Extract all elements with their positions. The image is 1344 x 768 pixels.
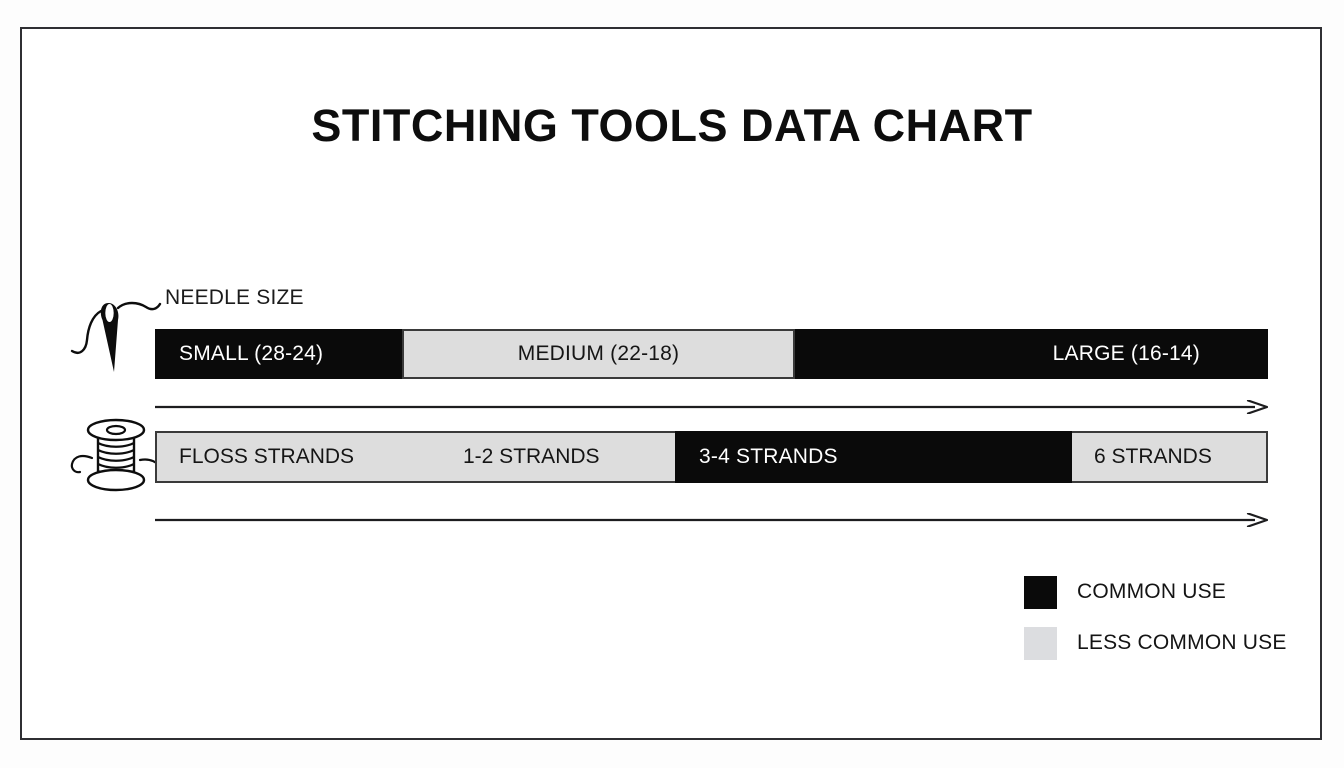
floss-strands-bar: FLOSS STRANDS 1-2 STRANDS 3-4 STRANDS 6 … — [155, 431, 1268, 483]
legend-swatch-common-use — [1024, 576, 1057, 609]
needle-segment-medium-label: MEDIUM (22-18) — [518, 342, 680, 366]
legend: COMMON USE LESS COMMON USE — [1024, 573, 1287, 662]
needle-segment-large[interactable]: LARGE (16-14) — [795, 329, 1268, 379]
needle-segment-small[interactable]: SMALL (28-24) — [155, 329, 402, 379]
infographic-canvas: STITCHING TOOLS DATA CHART NEEDLE SIZE S… — [0, 0, 1344, 768]
needle-segment-small-label: SMALL (28-24) — [179, 342, 323, 366]
page-title: STITCHING TOOLS DATA CHART — [0, 100, 1344, 152]
floss-segment-6-strands-label: 6 STRANDS — [1094, 445, 1212, 469]
legend-label-common-use: COMMON USE — [1077, 580, 1226, 604]
needle-segment-medium[interactable]: MEDIUM (22-18) — [402, 329, 795, 379]
floss-segment-3-4-strands[interactable]: 3-4 STRANDS — [675, 431, 1072, 483]
floss-segment-1-2-strands-label: 1-2 STRANDS — [463, 445, 600, 469]
sewing-needle-icon — [68, 276, 164, 381]
legend-item-common-use[interactable]: COMMON USE — [1024, 573, 1287, 611]
floss-segment-light-left[interactable]: FLOSS STRANDS 1-2 STRANDS — [155, 431, 675, 483]
floss-axis-arrow — [155, 513, 1268, 527]
legend-swatch-less-common-use — [1024, 627, 1057, 660]
floss-segment-6-strands[interactable]: 6 STRANDS — [1072, 431, 1268, 483]
needle-size-caption: NEEDLE SIZE — [165, 286, 304, 310]
needle-segment-large-label: LARGE (16-14) — [1053, 342, 1200, 366]
floss-segment-floss-strands-label: FLOSS STRANDS — [179, 445, 354, 469]
needle-axis-arrow — [155, 400, 1268, 414]
floss-segment-3-4-strands-label: 3-4 STRANDS — [699, 445, 838, 469]
legend-label-less-common-use: LESS COMMON USE — [1077, 631, 1287, 655]
legend-item-less-common-use[interactable]: LESS COMMON USE — [1024, 624, 1287, 662]
thread-spool-icon — [66, 412, 166, 501]
needle-size-bar: SMALL (28-24) MEDIUM (22-18) LARGE (16-1… — [155, 329, 1268, 379]
